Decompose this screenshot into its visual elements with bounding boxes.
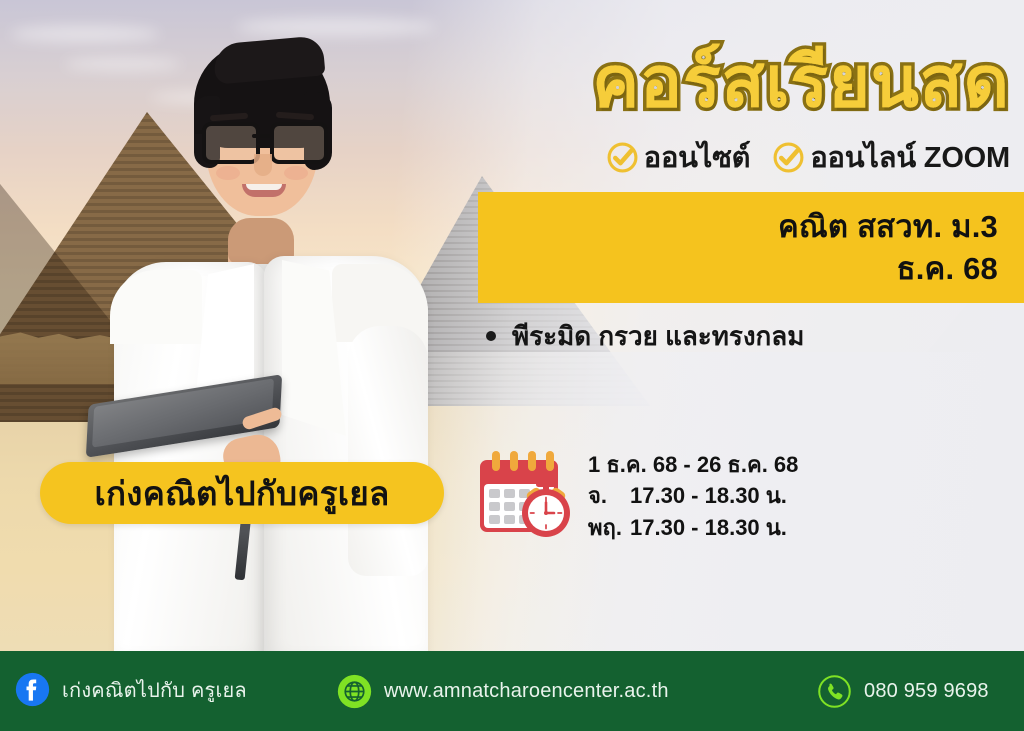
phone-label: 080 959 9698 xyxy=(864,680,989,703)
eyeglasses xyxy=(202,122,324,158)
delivery-modes: ออนไซต์ ออนไลน์ ZOOM xyxy=(470,136,1010,178)
instructor-photo xyxy=(96,8,426,660)
tagline-badge: เก่งคณิตไปกับครูเยล xyxy=(40,462,444,524)
lens-left xyxy=(202,122,260,164)
facebook-label: เก่งคณิตไปกับ ครูเยล xyxy=(62,674,247,706)
check-circle-icon xyxy=(772,141,805,174)
mode-online: ออนไลน์ ZOOM xyxy=(772,134,1010,180)
mode-onsite-label: ออนไซต์ xyxy=(644,134,751,180)
course-banner: คณิต สสวท. ม.3 ธ.ค. 68 xyxy=(478,192,1024,303)
schedule-text: 1 ธ.ค. 68 - 26 ธ.ค. 68 จ.17.30 - 18.30 น… xyxy=(588,450,798,541)
facebook-contact[interactable]: เก่งคณิตไปกับ ครูเยล xyxy=(14,671,247,708)
promo-poster: คอร์สเรียนสด คอร์สเรียนสด ออนไซต์ ออนไลน… xyxy=(0,0,1024,731)
website-contact[interactable]: www.amnatcharoencenter.ac.th xyxy=(336,673,669,710)
lens-right xyxy=(270,122,328,164)
arm-right xyxy=(348,326,428,576)
phone-contact[interactable]: 080 959 9698 xyxy=(816,673,989,710)
cheek-right xyxy=(284,166,308,180)
schedule-date-range: 1 ธ.ค. 68 - 26 ธ.ค. 68 xyxy=(588,450,798,479)
shoulder-left xyxy=(110,270,202,344)
mode-online-label: ออนไลน์ ZOOM xyxy=(810,134,1010,180)
website-label: www.amnatcharoencenter.ac.th xyxy=(384,680,669,703)
glasses-temple xyxy=(195,130,204,134)
course-name: คณิต สสวท. ม.3 xyxy=(778,207,998,247)
session-day: จ. xyxy=(588,481,630,510)
tagline-label: เก่งคณิตไปกับครูเยล xyxy=(94,467,389,520)
schedule-session-2: พฤ.17.30 - 18.30 น. xyxy=(588,513,798,542)
page-title: คอร์สเรียนสด xyxy=(462,44,1010,120)
mode-onsite: ออนไซต์ xyxy=(606,134,751,180)
cheek-left xyxy=(216,166,240,180)
schedule-block: 1 ธ.ค. 68 - 26 ธ.ค. 68 จ.17.30 - 18.30 น… xyxy=(468,444,888,548)
contact-footer: เก่งคณิตไปกับ ครูเยล www.amnatcharoencen… xyxy=(0,651,1024,731)
session-day: พฤ. xyxy=(588,513,630,542)
phone-icon xyxy=(816,673,853,710)
bullet-dot-icon xyxy=(486,331,496,341)
nose xyxy=(254,154,272,176)
facebook-icon xyxy=(14,671,51,708)
schedule-session-1: จ.17.30 - 18.30 น. xyxy=(588,481,798,510)
teeth xyxy=(246,184,282,190)
globe-icon xyxy=(336,673,373,710)
course-month: ธ.ค. 68 xyxy=(897,249,998,289)
topic-label: พีระมิด กรวย และทรงกลม xyxy=(512,316,804,357)
session-time: 17.30 - 18.30 น. xyxy=(630,515,787,540)
calendar-clock-icon xyxy=(468,446,572,546)
check-circle-icon xyxy=(606,141,639,174)
topic-list-item: พีระมิด กรวย และทรงกลม xyxy=(486,318,1006,354)
session-time: 17.30 - 18.30 น. xyxy=(630,483,787,508)
glasses-bridge xyxy=(252,134,272,138)
